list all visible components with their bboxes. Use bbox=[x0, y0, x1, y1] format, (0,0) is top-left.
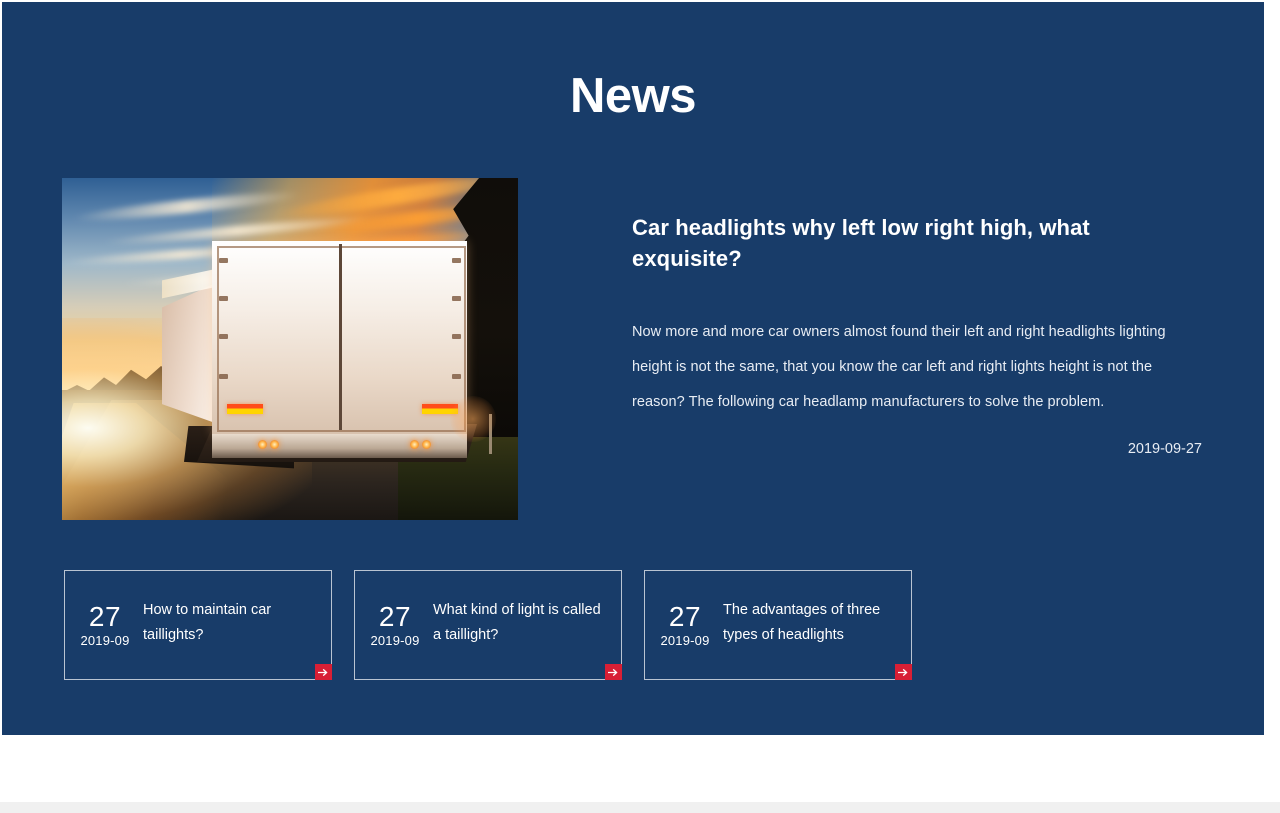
news-card-day: 27 bbox=[647, 602, 723, 631]
door-hinge bbox=[452, 374, 461, 379]
news-card[interactable]: 27 2019-09 The advantages of three types… bbox=[644, 570, 912, 680]
arrow-right-icon[interactable] bbox=[605, 664, 622, 680]
news-card-day: 27 bbox=[357, 602, 433, 631]
featured-headline[interactable]: Car headlights why left low right high, … bbox=[632, 212, 1202, 274]
featured-summary: Now more and more car owners almost foun… bbox=[632, 315, 1202, 419]
news-card-day: 27 bbox=[67, 602, 143, 631]
news-card-month: 2019-09 bbox=[647, 633, 723, 648]
arrow-right-icon[interactable] bbox=[895, 664, 912, 680]
news-card-list: 27 2019-09 How to maintain car taillight… bbox=[64, 570, 1204, 682]
page-root: News bbox=[0, 0, 1280, 813]
lens-flare bbox=[450, 396, 496, 442]
news-card-date: 27 2019-09 bbox=[355, 602, 433, 648]
featured-article[interactable]: Car headlights why left low right high, … bbox=[62, 178, 1202, 523]
door-hinge bbox=[452, 258, 461, 263]
trailer-door-seam bbox=[339, 244, 342, 430]
news-card-date: 27 2019-09 bbox=[645, 602, 723, 648]
taillight bbox=[270, 440, 279, 449]
taillight bbox=[258, 440, 267, 449]
news-card-title: What kind of light is called a taillight… bbox=[433, 598, 621, 653]
featured-article-image[interactable] bbox=[62, 178, 518, 520]
news-card-title: How to maintain car taillights? bbox=[143, 598, 331, 653]
news-section: News bbox=[2, 2, 1264, 735]
door-hinge bbox=[452, 296, 461, 301]
door-hinge bbox=[219, 334, 228, 339]
door-hinge bbox=[219, 296, 228, 301]
door-hinge bbox=[452, 334, 461, 339]
page-title: News bbox=[2, 70, 1264, 124]
scrollbar-track[interactable] bbox=[1267, 0, 1280, 802]
door-hinge bbox=[219, 374, 228, 379]
featured-date: 2019-09-27 bbox=[632, 441, 1202, 457]
footer-strip bbox=[0, 802, 1280, 813]
news-card-month: 2019-09 bbox=[67, 633, 143, 648]
featured-article-text: Car headlights why left low right high, … bbox=[632, 212, 1202, 457]
content-white-band bbox=[0, 735, 1267, 802]
news-card[interactable]: 27 2019-09 What kind of light is called … bbox=[354, 570, 622, 680]
news-card-date: 27 2019-09 bbox=[65, 602, 143, 648]
news-card-title: The advantages of three types of headlig… bbox=[723, 598, 911, 653]
arrow-right-icon[interactable] bbox=[315, 664, 332, 680]
taillight bbox=[410, 440, 419, 449]
news-card[interactable]: 27 2019-09 How to maintain car taillight… bbox=[64, 570, 332, 680]
news-card-month: 2019-09 bbox=[357, 633, 433, 648]
door-hinge bbox=[219, 258, 228, 263]
taillight bbox=[422, 440, 431, 449]
reflective-marker bbox=[227, 404, 263, 414]
